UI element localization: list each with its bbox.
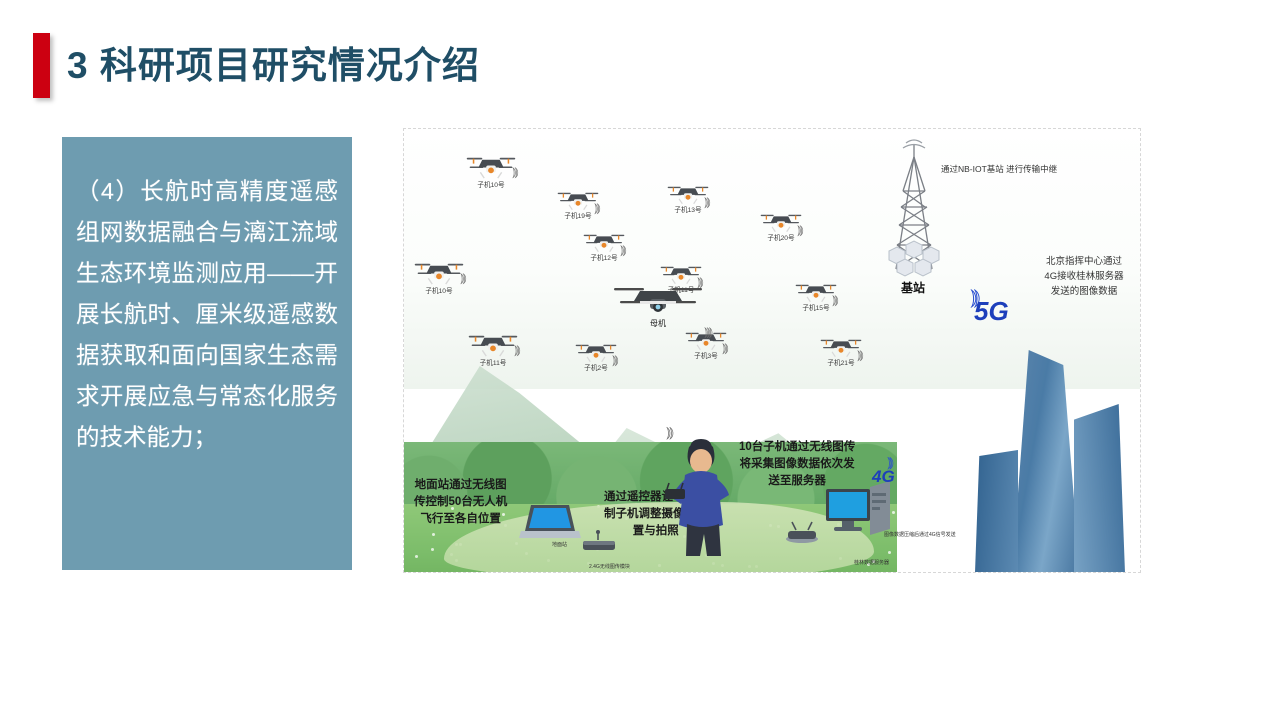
- system-architecture-diagram: 子机10号⦆⦆ 子机19号⦆⦆ 子机13号⦆⦆ 子机20号⦆⦆: [403, 128, 1141, 573]
- device-label: 桂林数据服务器: [854, 559, 889, 566]
- device-label: 2.4G无线图传模块: [589, 563, 630, 570]
- slide-header: 3 科研项目研究情况介绍: [0, 0, 1280, 120]
- caption-panel: （4）长航时高精度遥感组网数据融合与漓江流域生态环境监测应用——开展长航时、厘米…: [62, 137, 352, 570]
- title-accent-bar: [33, 33, 50, 98]
- device-label: 地面站: [552, 541, 567, 548]
- meadow-speck: [744, 572, 747, 573]
- caption-panel-text: （4）长航时高精度遥感组网数据融合与漓江流域生态环境监测应用——开展长航时、厘米…: [76, 171, 338, 458]
- page-title: 3 科研项目研究情况介绍: [67, 38, 480, 94]
- device-label-layer: 地面站2.4G无线图传模块桂林数据服务器图像数据压缩后通过4G信号发送: [404, 129, 1140, 572]
- device-label: 图像数据压缩后通过4G信号发送: [884, 531, 956, 538]
